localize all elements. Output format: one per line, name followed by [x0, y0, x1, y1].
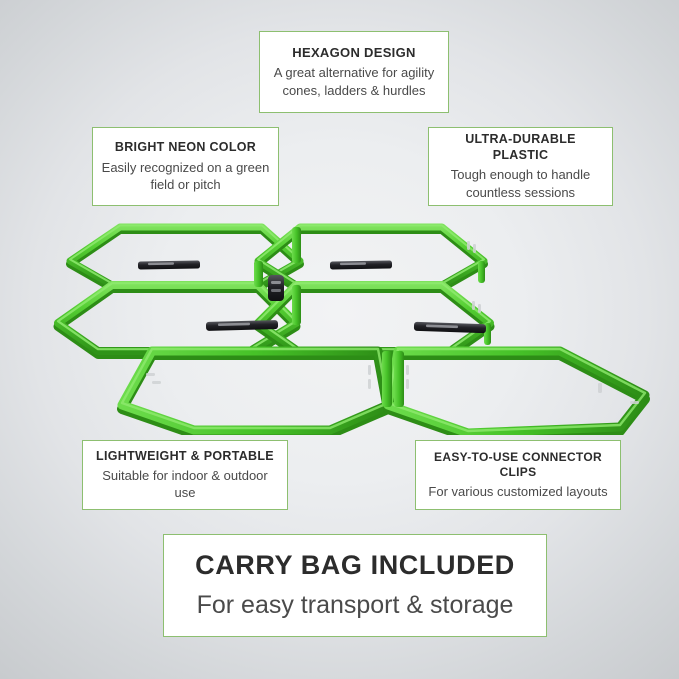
callout-subtitle: For easy transport & storage — [197, 589, 514, 622]
callout-subtitle: Easily recognized on a green field or pi… — [101, 159, 270, 193]
callout-carry-bag: CARRY BAG INCLUDED For easy transport & … — [163, 534, 547, 637]
callout-ultra-durable-plastic: ULTRA-DURABLE PLASTIC Tough enough to ha… — [428, 127, 613, 206]
ring-group — [58, 225, 645, 435]
callout-connector-clips: EASY-TO-USE CONNECTOR CLIPS For various … — [415, 440, 621, 510]
connector-clip — [330, 260, 392, 269]
infographic-page: HEXAGON DESIGN A great alternative for a… — [0, 0, 679, 679]
callout-title: BRIGHT NEON COLOR — [115, 140, 256, 156]
connector-clip — [414, 322, 486, 334]
connector-clip-group — [138, 260, 486, 333]
callout-lightweight-portable: LIGHTWEIGHT & PORTABLE Suitable for indo… — [82, 440, 288, 510]
callout-title: CARRY BAG INCLUDED — [195, 549, 515, 583]
hexagon-ring-front-right — [388, 349, 645, 435]
callout-subtitle: A great alternative for agility cones, l… — [268, 64, 440, 98]
hexagon-ring-front-left — [122, 349, 388, 434]
callout-hexagon-design: HEXAGON DESIGN A great alternative for a… — [259, 31, 449, 113]
callout-title: LIGHTWEIGHT & PORTABLE — [96, 449, 274, 465]
connector-clip — [206, 320, 278, 331]
connector-clip-center-vertical — [268, 275, 284, 301]
callout-title: ULTRA-DURABLE PLASTIC — [437, 132, 604, 163]
callout-subtitle: Suitable for indoor & outdoor use — [91, 467, 279, 501]
product-image — [0, 205, 679, 435]
callout-title: HEXAGON DESIGN — [292, 45, 415, 61]
callout-title: EASY-TO-USE CONNECTOR CLIPS — [424, 450, 612, 480]
connector-clip — [138, 260, 200, 269]
callout-bright-neon-color: BRIGHT NEON COLOR Easily recognized on a… — [92, 127, 279, 206]
callout-subtitle: Tough enough to handle countless session… — [437, 166, 604, 200]
callout-subtitle: For various customized layouts — [428, 483, 607, 500]
